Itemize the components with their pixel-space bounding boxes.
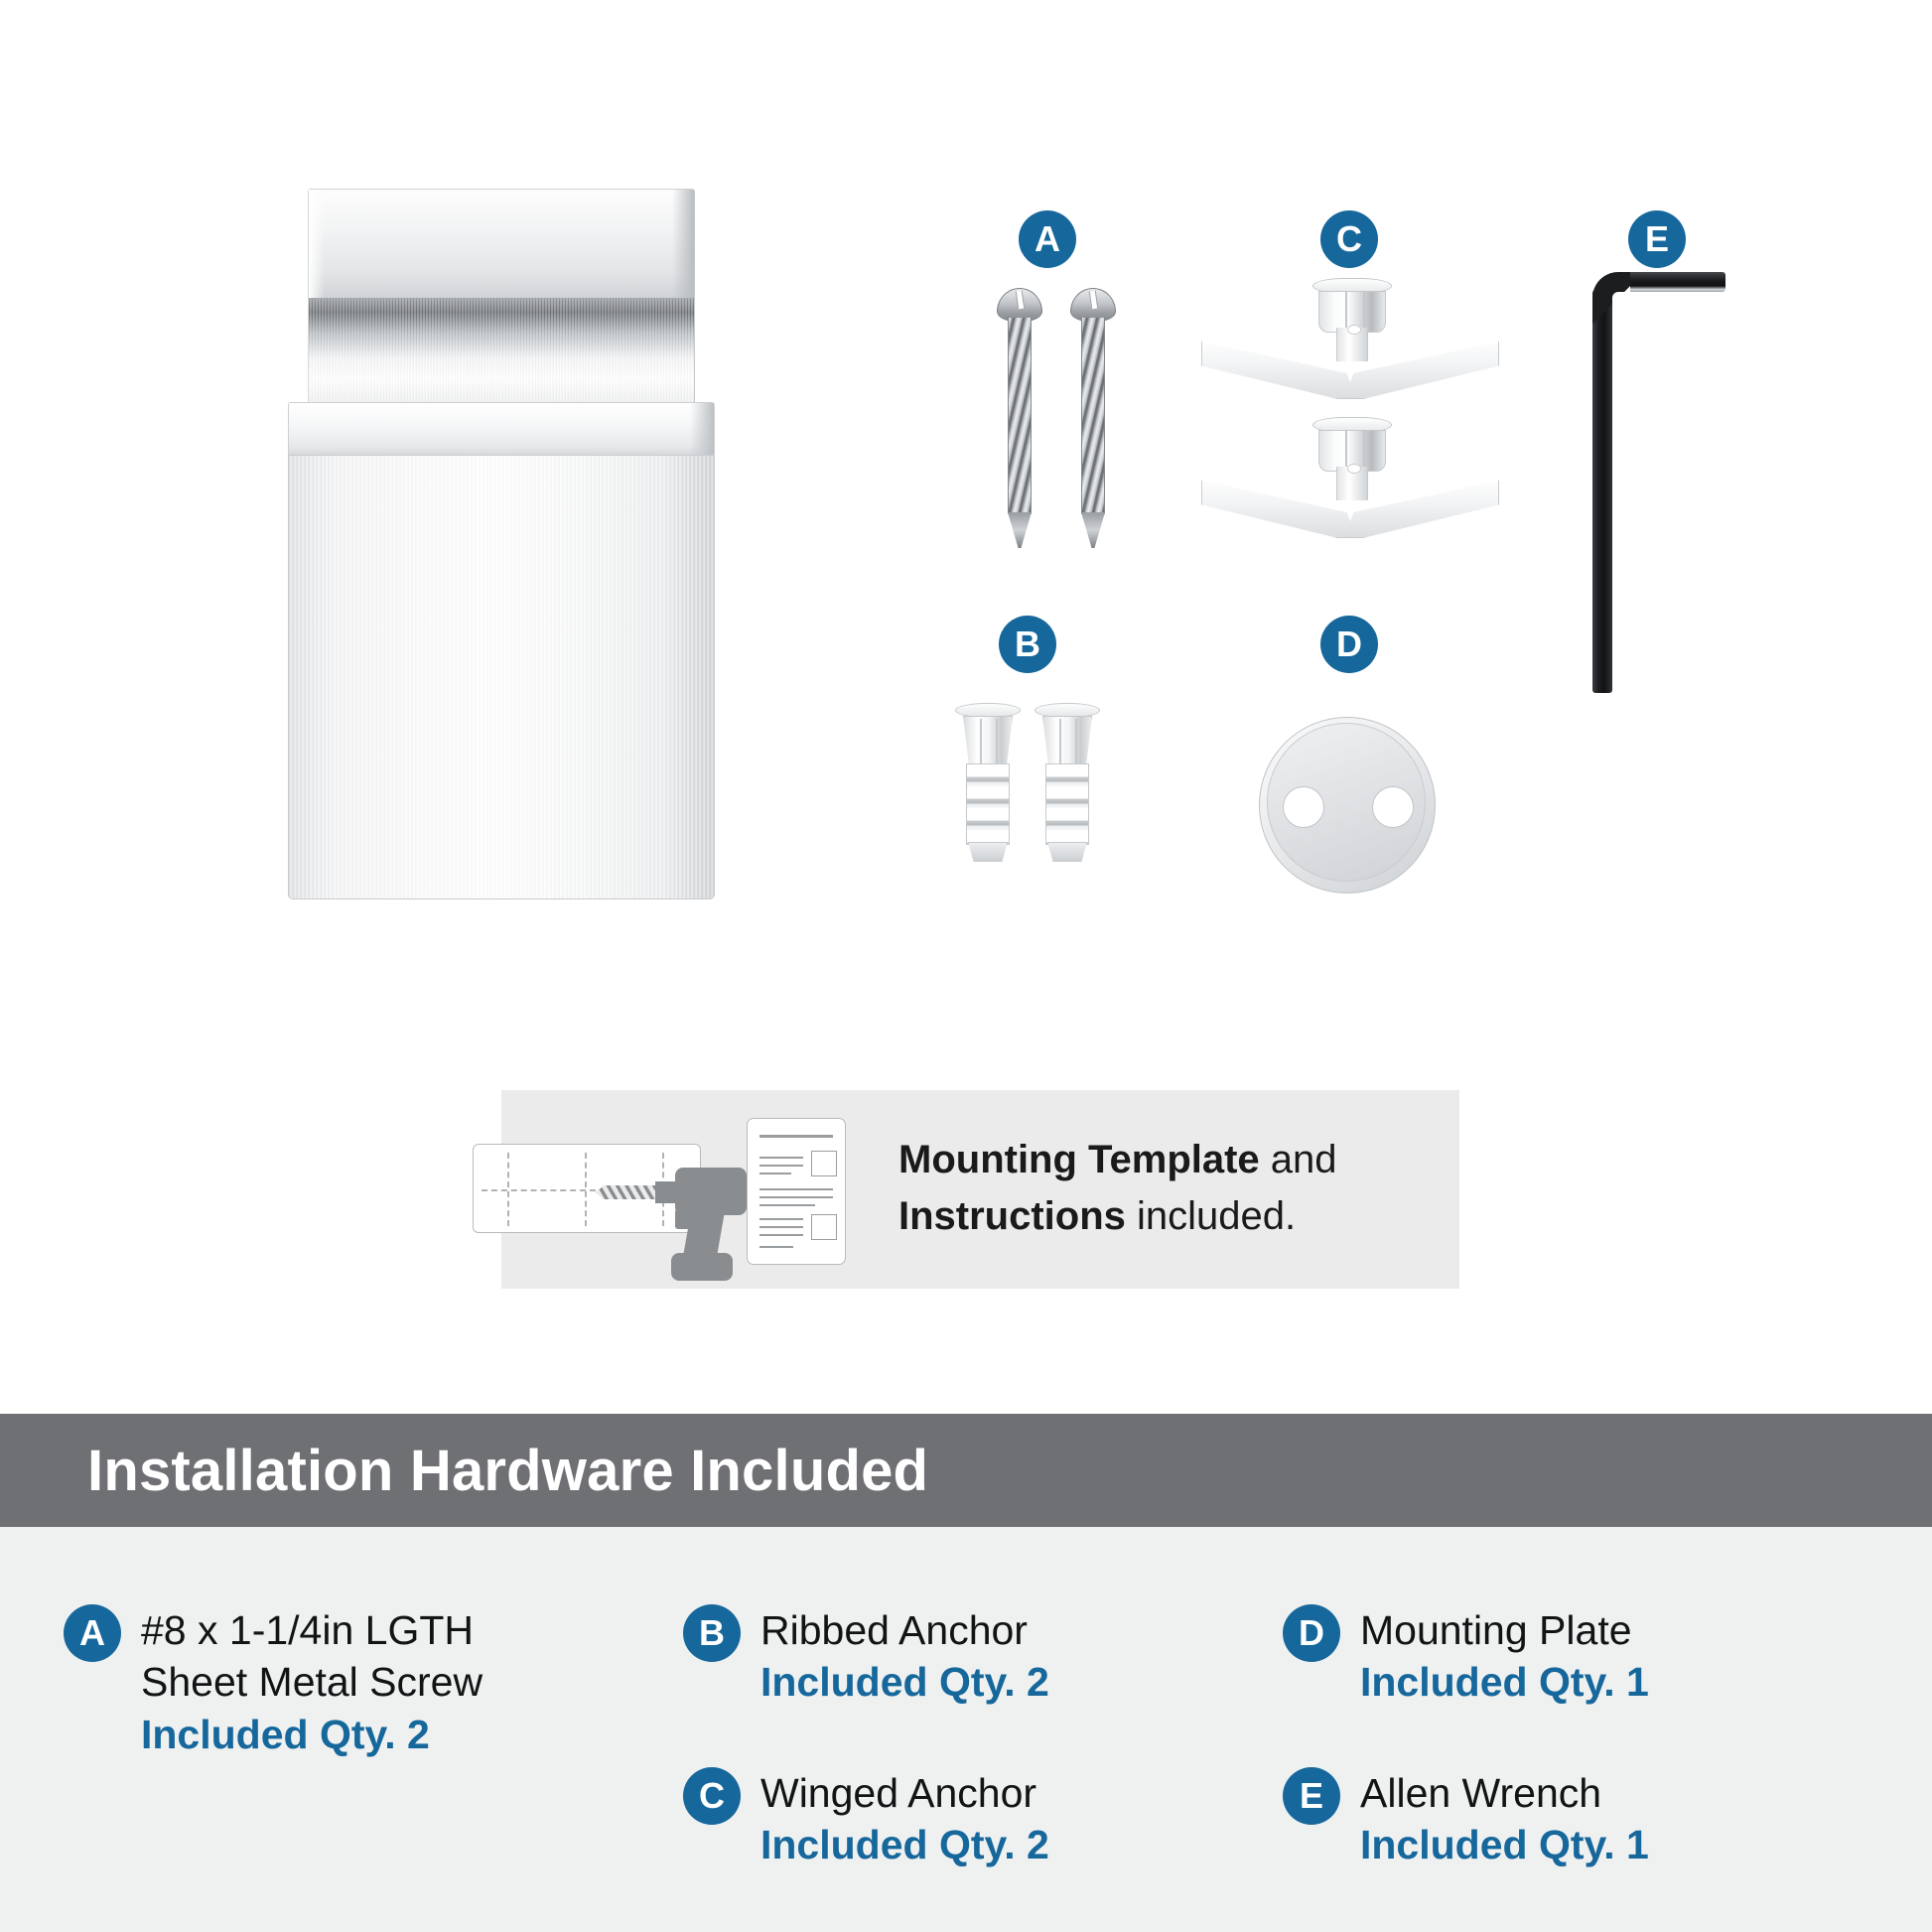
- anchor-ribbed-body: [966, 763, 1010, 845]
- product-shelf-edge: [288, 402, 715, 458]
- plate-screw-hole-left: [1283, 786, 1324, 828]
- product-top-cap: [308, 189, 695, 298]
- doc-text-line: [759, 1165, 803, 1167]
- legend-badge-e: E: [1283, 1767, 1340, 1825]
- winged-anchor-2: [1201, 417, 1499, 556]
- doc-text-line: [759, 1204, 815, 1206]
- legend-qty: Included Qty. 1: [1360, 1656, 1839, 1708]
- screw-threaded-shaft: [1081, 318, 1105, 514]
- anchor-flange: [1035, 703, 1100, 718]
- legend-item-a: A #8 x 1-1/4in LGTH Sheet Metal Screw In…: [64, 1604, 620, 1760]
- doc-text-line: [759, 1196, 833, 1198]
- legend-name: Allen Wrench: [1360, 1767, 1839, 1819]
- winged-anchor-stem: [1336, 467, 1368, 500]
- doc-text-line: [759, 1173, 791, 1174]
- doc-text-line: [759, 1226, 803, 1228]
- legend-item-d: D Mounting Plate Included Qty. 1: [1283, 1604, 1839, 1709]
- product-brushed-body: [288, 455, 715, 899]
- drill-bit: [596, 1185, 657, 1199]
- ribbed-anchor-1: [955, 703, 1021, 862]
- doc-text-line: [759, 1157, 803, 1159]
- doc-heading-rule: [759, 1135, 833, 1138]
- mounting-plate-icon: [1259, 717, 1436, 894]
- ribbed-anchor-2: [1035, 703, 1100, 862]
- callout-badge-b: B: [999, 616, 1056, 673]
- callout-badge-e: E: [1628, 210, 1686, 268]
- legend-badge-c: C: [683, 1767, 741, 1825]
- screw-tip: [1081, 512, 1105, 548]
- legend-name: Mounting Plate: [1360, 1604, 1839, 1656]
- anchor-cone: [963, 716, 1013, 765]
- legend-badge-d: D: [1283, 1604, 1340, 1662]
- callout-badge-c: C: [1320, 210, 1378, 268]
- sheet-metal-screw-1: [997, 288, 1042, 546]
- allen-wrench-icon: [1587, 266, 1725, 693]
- doc-text-line: [759, 1188, 833, 1190]
- drill-chuck: [655, 1181, 677, 1203]
- doc-text-line: [759, 1218, 803, 1220]
- wrench-long-arm: [1592, 290, 1612, 693]
- winged-anchor-wing-left: [1201, 338, 1356, 399]
- product-hardware-infographic: A C E B: [0, 0, 1932, 1932]
- legend-body: Mounting Plate Included Qty. 1: [1360, 1604, 1839, 1709]
- banner-text: Mounting Template and Instructions inclu…: [898, 1132, 1454, 1245]
- drill-icon: [596, 1142, 755, 1281]
- product-image-square-robe-hook: [288, 189, 715, 903]
- screw-tip: [1008, 512, 1032, 548]
- page-title: Installation Hardware Included: [87, 1438, 928, 1504]
- legend-badge-a: A: [64, 1604, 121, 1662]
- winged-anchor-wing-left: [1201, 477, 1356, 538]
- anchor-tip: [1047, 842, 1087, 862]
- doc-image-box: [811, 1214, 837, 1240]
- banner-line-2: Instructions included.: [898, 1188, 1454, 1245]
- banner-line-1-strong: Mounting Template: [898, 1138, 1260, 1181]
- banner-line-2-rest: included.: [1126, 1194, 1296, 1238]
- plate-screw-hole-right: [1372, 786, 1414, 828]
- banner-line-2-strong: Instructions: [898, 1194, 1126, 1238]
- anchor-ribbed-body: [1045, 763, 1089, 845]
- banner-line-1-rest: and: [1260, 1138, 1337, 1181]
- screw-head-icon: [997, 288, 1042, 322]
- winged-anchor-stem: [1336, 328, 1368, 361]
- anchor-tip: [968, 842, 1008, 862]
- product-recessed-band: [308, 298, 695, 402]
- legend-qty: Included Qty. 2: [760, 1819, 1239, 1870]
- legend-body: #8 x 1-1/4in LGTH Sheet Metal Screw Incl…: [141, 1604, 620, 1760]
- doc-text-line: [759, 1246, 793, 1248]
- banner-line-1: Mounting Template and: [898, 1132, 1454, 1188]
- doc-text-line: [759, 1234, 803, 1236]
- anchor-flange: [955, 703, 1021, 718]
- legend-qty: Included Qty. 1: [1360, 1819, 1839, 1870]
- legend-item-e: E Allen Wrench Included Qty. 1: [1283, 1767, 1839, 1871]
- legend-badge-b: B: [683, 1604, 741, 1662]
- callout-badge-d: D: [1320, 616, 1378, 673]
- screw-threaded-shaft: [1008, 318, 1032, 514]
- legend-qty: Included Qty. 2: [141, 1709, 620, 1760]
- drill-battery-base: [671, 1253, 733, 1281]
- section-header-band: Installation Hardware Included: [0, 1414, 1932, 1527]
- legend-name: Winged Anchor: [760, 1767, 1239, 1819]
- screw-head-icon: [1070, 288, 1116, 322]
- sheet-metal-screw-2: [1070, 288, 1116, 546]
- legend-qty: Included Qty. 2: [760, 1656, 1239, 1708]
- doc-image-box: [811, 1151, 837, 1176]
- wrench-short-arm: [1630, 272, 1725, 292]
- screw-slot: [1089, 291, 1098, 310]
- callout-badge-a: A: [1019, 210, 1076, 268]
- instructions-document-icon: [747, 1118, 846, 1265]
- winged-anchor-1: [1201, 278, 1499, 417]
- screw-slot: [1016, 291, 1025, 310]
- legend-name: Ribbed Anchor: [760, 1604, 1239, 1656]
- anchor-cone: [1042, 716, 1092, 765]
- legend-body: Winged Anchor Included Qty. 2: [760, 1767, 1239, 1871]
- legend-item-c: C Winged Anchor Included Qty. 2: [683, 1767, 1239, 1871]
- legend-name: #8 x 1-1/4in LGTH Sheet Metal Screw: [141, 1604, 620, 1709]
- legend-body: Allen Wrench Included Qty. 1: [1360, 1767, 1839, 1871]
- legend-item-b: B Ribbed Anchor Included Qty. 2: [683, 1604, 1239, 1709]
- legend-body: Ribbed Anchor Included Qty. 2: [760, 1604, 1239, 1709]
